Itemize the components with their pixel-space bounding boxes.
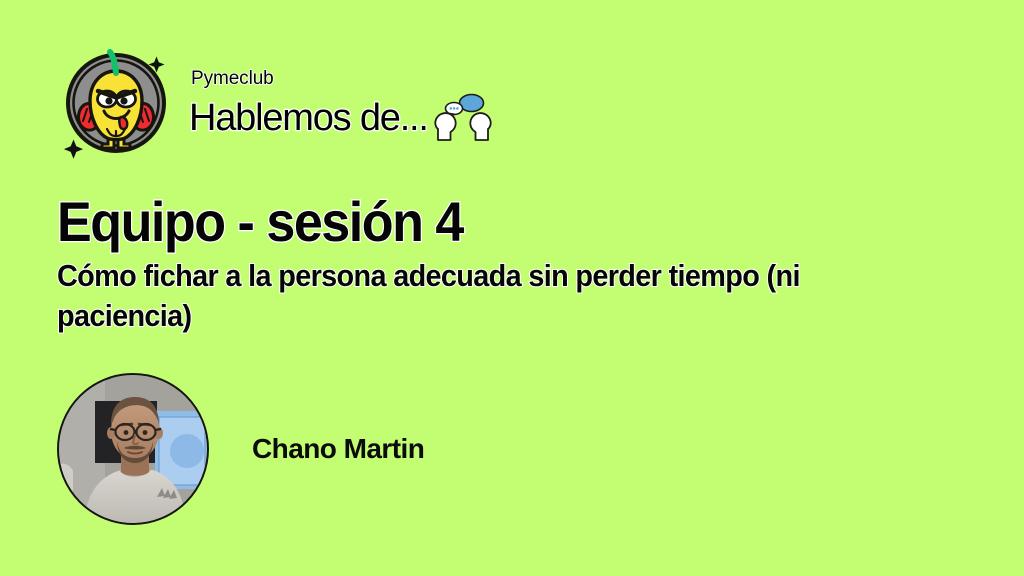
pymeclub-logo xyxy=(57,43,183,169)
presentation-slide: Pymeclub Hablemos de... xyxy=(0,0,1024,576)
speaker-row: Chano Martin xyxy=(57,373,424,525)
brand-title-row: Hablemos de... xyxy=(189,92,492,144)
two-heads-speech-bubbles-icon xyxy=(434,92,492,142)
speaker-name: Chano Martin xyxy=(252,433,424,465)
brand-wordmark: Pymeclub Hablemos de... xyxy=(189,69,492,144)
headline-block: Equipo - sesión 4 Cómo fichar a la perso… xyxy=(57,193,957,337)
brand-header: Pymeclub Hablemos de... xyxy=(57,43,492,169)
session-subtitle: Cómo fichar a la persona adecuada sin pe… xyxy=(57,256,875,337)
avatar xyxy=(57,373,209,525)
brand-kicker: Pymeclub xyxy=(189,69,492,88)
session-title: Equipo - sesión 4 xyxy=(57,193,894,250)
brand-title: Hablemos de... xyxy=(189,99,428,137)
